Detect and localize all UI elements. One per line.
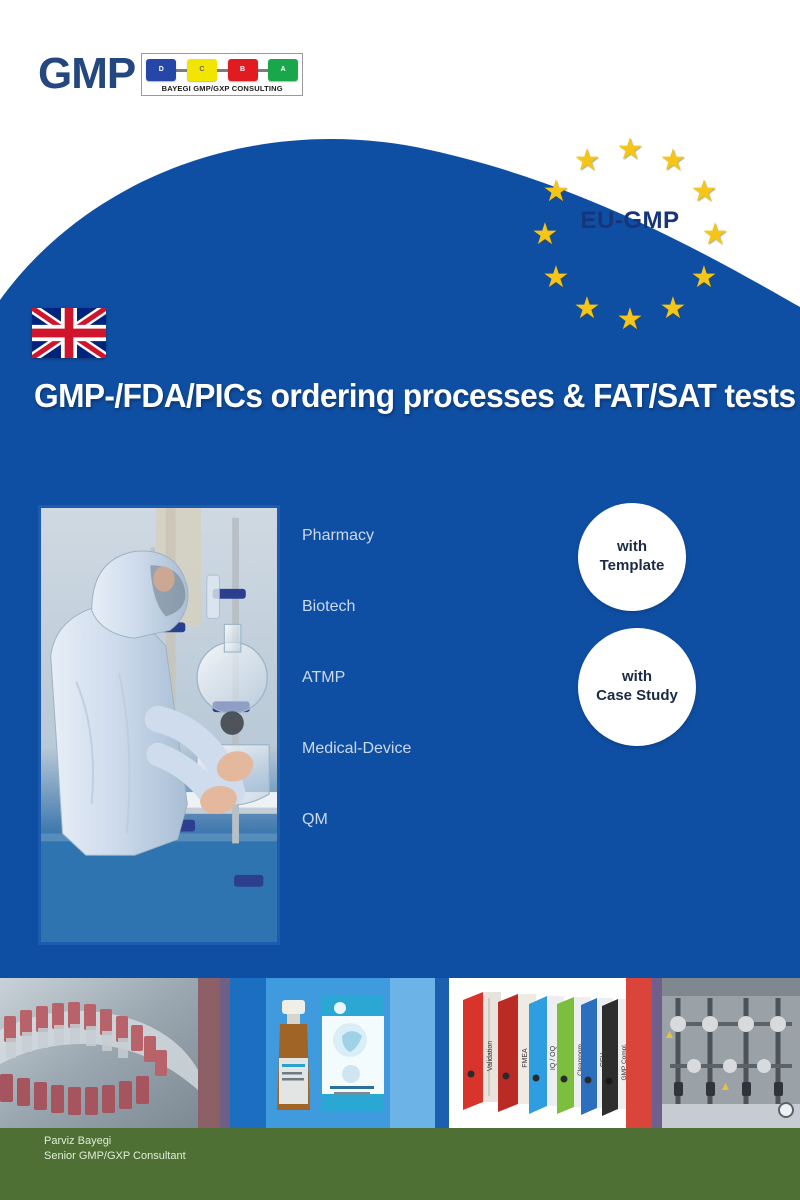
- badge-with-template: with Template: [578, 503, 686, 611]
- chain-block-d: D: [146, 59, 176, 81]
- consulting-logo-box: D C B A BAYEGI GMP/GXP CONSULTING: [141, 53, 303, 96]
- bottom-photo-strip: Validation FMEA IQ / OQ: [0, 978, 800, 1128]
- eu-star-icon: ★: [700, 220, 730, 250]
- strip-photo-piping: [662, 978, 800, 1128]
- strip-photo-binders: Validation FMEA IQ / OQ: [449, 978, 626, 1128]
- strip-divider-blue: [435, 978, 449, 1128]
- strip-divider-violet: [220, 978, 230, 1128]
- badge-template-line1: with: [617, 538, 647, 557]
- badge-case-line2: Case Study: [596, 687, 678, 706]
- eu-star-icon: ★: [689, 177, 719, 207]
- cover-title: GMP-/FDA/PICs ordering processes & FAT/S…: [34, 378, 735, 414]
- gmp-wordmark: GMP: [38, 52, 135, 96]
- badge-case-line1: with: [622, 668, 652, 687]
- logo-chain-row: D C B A: [146, 57, 298, 83]
- chain-block-c: C: [187, 59, 217, 81]
- category-item-medical-device: Medical-Device: [302, 741, 512, 757]
- main-cover-photo: [38, 505, 280, 945]
- united-kingdom-flag-icon: [32, 308, 106, 358]
- strip-divider-maroon: [198, 978, 220, 1128]
- category-item-qm: QM: [302, 812, 512, 828]
- eu-star-icon: ★: [572, 294, 602, 324]
- svg-text:Validation: Validation: [487, 1041, 494, 1071]
- svg-text:FMEA: FMEA: [522, 1048, 529, 1068]
- eu-star-icon: ★: [615, 135, 645, 165]
- category-item-biotech: Biotech: [302, 599, 512, 615]
- eu-star-icon: ★: [541, 263, 571, 293]
- badge-with-case-study: with Case Study: [578, 628, 696, 746]
- category-item-atmp: ATMP: [302, 670, 512, 686]
- strip-photo-vial-line: [0, 978, 198, 1128]
- eu-star-icon: ★: [615, 305, 645, 335]
- eu-star-icon: ★: [658, 146, 688, 176]
- book-cover: GMP D C B A BAYEGI GMP/GXP CONSULTING EU…: [0, 0, 800, 1200]
- strip-divider-purple: [652, 978, 662, 1128]
- eu-star-icon: ★: [541, 177, 571, 207]
- eu-star-icon: ★: [689, 263, 719, 293]
- logo-caption: BAYEGI GMP/GXP CONSULTING: [146, 84, 298, 93]
- author-role: Senior GMP/GXP Consultant: [44, 1149, 186, 1164]
- chain-block-a: A: [268, 59, 298, 81]
- author-name: Parviz Bayegi: [44, 1134, 186, 1149]
- eu-star-icon: ★: [530, 220, 560, 250]
- badge-template-line2: Template: [600, 557, 665, 576]
- category-list: Pharmacy Biotech ATMP Medical-Device QM: [302, 528, 512, 883]
- svg-text:GMP Compl.: GMP Compl.: [621, 1043, 626, 1080]
- brand-logo: GMP D C B A BAYEGI GMP/GXP CONSULTING: [38, 52, 303, 96]
- category-item-pharmacy: Pharmacy: [302, 528, 512, 544]
- eu-star-icon: ★: [658, 294, 688, 324]
- strip-photo-product: [230, 978, 435, 1128]
- chain-block-b: B: [228, 59, 258, 81]
- eu-stars-emblem: EU-GMP ★ ★ ★ ★ ★ ★ ★ ★ ★ ★ ★ ★: [520, 135, 740, 320]
- author-block: Parviz Bayegi Senior GMP/GXP Consultant: [44, 1134, 186, 1164]
- svg-text:IQ / OQ: IQ / OQ: [550, 1045, 557, 1070]
- strip-divider-red: [626, 978, 652, 1128]
- eu-star-icon: ★: [572, 146, 602, 176]
